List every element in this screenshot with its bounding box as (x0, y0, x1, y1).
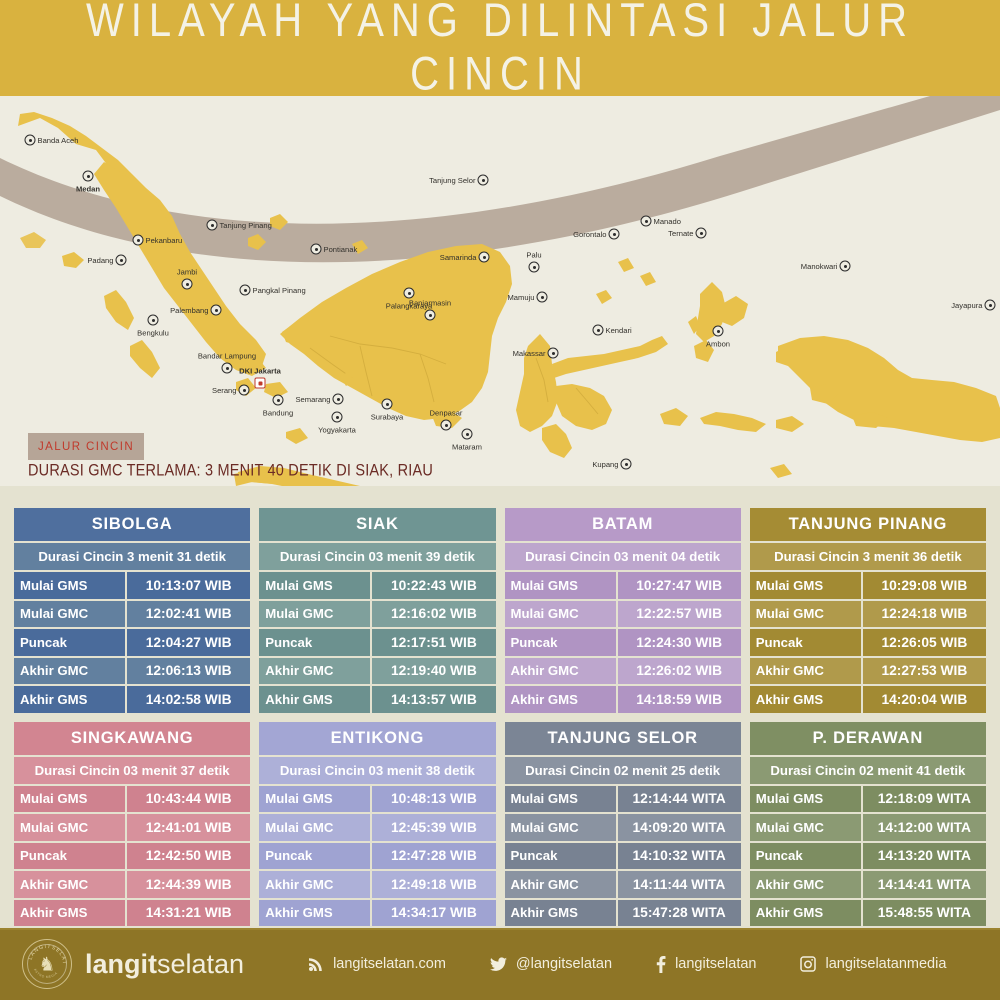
city-dot-icon (609, 229, 620, 240)
city-dot-icon (211, 305, 222, 316)
card-row: Akhir GMS15:48:55 WITA (750, 900, 986, 927)
legend-jalur-cincin: JALUR CINCIN (28, 433, 144, 460)
card-row-label: Akhir GMC (14, 658, 125, 685)
timing-card: ENTIKONGDurasi Cincin 03 menit 38 detikM… (259, 722, 495, 927)
brand-logo: LANGITSELATAN ASTRO MEDIA ♞ langitselata… (22, 939, 244, 989)
card-row-label: Mulai GMC (505, 814, 616, 841)
card-row-value: 14:14:41 WITA (863, 871, 986, 898)
city-dot-icon (537, 292, 548, 303)
card-row-label: Akhir GMC (14, 871, 125, 898)
map-city-label: Tanjung Selor (429, 176, 475, 185)
map-city-marker: Bandar Lampung (222, 363, 233, 374)
card-row-value: 12:42:50 WIB (127, 843, 250, 870)
card-title: SINGKAWANG (14, 722, 250, 755)
map-city-marker: Pontianak (311, 244, 322, 255)
map-city-marker: Ambon (713, 326, 724, 337)
city-dot-icon (529, 262, 540, 273)
map-city-marker: Pekanbaru (133, 235, 144, 246)
city-dot-icon (332, 412, 343, 423)
footer-link-label: langitselatan.com (333, 956, 446, 972)
card-row-label: Akhir GMS (505, 900, 616, 927)
map-city-label: Kendari (606, 326, 632, 335)
card-row-value: 14:18:59 WIB (618, 686, 741, 713)
card-duration: Durasi Cincin 3 menit 36 detik (750, 543, 986, 570)
map-city-marker: Palembang (211, 305, 222, 316)
card-row-label: Mulai GMS (259, 572, 370, 599)
card-row: Akhir GMS14:18:59 WIB (505, 686, 741, 713)
card-row-label: Akhir GMC (750, 871, 861, 898)
card-row: Puncak12:24:30 WIB (505, 629, 741, 656)
card-row: Puncak12:26:05 WIB (750, 629, 986, 656)
city-dot-icon (641, 216, 652, 227)
card-row-label: Mulai GMS (505, 572, 616, 599)
map-city-marker: Kupang (621, 459, 632, 470)
map-city-marker: Denpasar (441, 420, 452, 431)
indonesia-map (0, 96, 1000, 486)
map-city-marker: Gorontalo (609, 229, 620, 240)
map-city-label: Banda Aceh (38, 136, 79, 145)
rss-icon (308, 956, 324, 972)
card-row-value: 12:18:09 WITA (863, 786, 986, 813)
card-row-label: Akhir GMS (750, 900, 861, 927)
city-dot-icon (133, 235, 144, 246)
card-row-label: Akhir GMS (750, 686, 861, 713)
card-row: Akhir GMC12:49:18 WIB (259, 871, 495, 898)
map-city-label: Yogyakarta (318, 426, 356, 435)
city-dot-icon (222, 363, 233, 374)
card-row: Akhir GMC12:44:39 WIB (14, 871, 250, 898)
card-row: Mulai GMS12:18:09 WITA (750, 786, 986, 813)
card-row-label: Akhir GMS (505, 686, 616, 713)
page-title: WILAYAH YANG DILINTASI JALUR CINCIN (0, 0, 1000, 105)
card-row-label: Mulai GMC (750, 601, 861, 628)
card-row-label: Akhir GMS (14, 900, 125, 927)
map-city-label: DKI Jakarta (239, 367, 281, 376)
card-row: Akhir GMS14:02:58 WIB (14, 686, 250, 713)
timing-card: SINGKAWANGDurasi Cincin 03 menit 37 deti… (14, 722, 250, 927)
map-city-marker: Tanjung Selor (478, 175, 489, 186)
card-row: Akhir GMS14:31:21 WIB (14, 900, 250, 927)
card-row: Mulai GMS10:13:07 WIB (14, 572, 250, 599)
header-bar: WILAYAH YANG DILINTASI JALUR CINCIN (0, 0, 1000, 96)
map-city-marker: Semarang (333, 394, 344, 405)
card-row-label: Akhir GMS (259, 686, 370, 713)
card-row-label: Puncak (750, 843, 861, 870)
city-dot-icon (621, 459, 632, 470)
instagram-icon (800, 956, 816, 972)
map-city-marker: Surabaya (382, 399, 393, 410)
card-row: Akhir GMS14:34:17 WIB (259, 900, 495, 927)
map-city-label: Palembang (170, 306, 208, 315)
card-title: TANJUNG SELOR (505, 722, 741, 755)
facebook-icon (656, 956, 666, 973)
card-row-value: 14:31:21 WIB (127, 900, 250, 927)
card-row: Mulai GMC14:12:00 WITA (750, 814, 986, 841)
card-row-label: Mulai GMC (14, 601, 125, 628)
card-row: Mulai GMC12:22:57 WIB (505, 601, 741, 628)
card-duration: Durasi Cincin 3 menit 31 detik (14, 543, 250, 570)
card-row-value: 10:43:44 WIB (127, 786, 250, 813)
map-city-label: Manokwari (801, 262, 838, 271)
timing-card: TANJUNG SELORDurasi Cincin 02 menit 25 d… (505, 722, 741, 927)
card-row-value: 14:13:57 WIB (372, 686, 495, 713)
map-city-label: Mataram (452, 443, 482, 452)
card-row-value: 12:06:13 WIB (127, 658, 250, 685)
card-row-value: 15:47:28 WITA (618, 900, 741, 927)
card-row-value: 14:02:58 WIB (127, 686, 250, 713)
map-city-label: Semarang (295, 395, 330, 404)
map-city-marker: Kendari (593, 325, 604, 336)
card-row: Mulai GMS10:22:43 WIB (259, 572, 495, 599)
city-dot-icon (25, 135, 36, 146)
map-city-label: Surabaya (371, 413, 404, 422)
card-row-value: 10:27:47 WIB (618, 572, 741, 599)
card-row-label: Akhir GMC (505, 658, 616, 685)
card-row-value: 14:13:20 WITA (863, 843, 986, 870)
map-city-marker: Palangkaraya (404, 288, 415, 299)
map-city-marker: Makassar (548, 348, 559, 359)
map-city-marker: Banda Aceh (25, 135, 36, 146)
card-row-label: Akhir GMC (750, 658, 861, 685)
card-row-value: 15:48:55 WITA (863, 900, 986, 927)
card-row-label: Puncak (14, 629, 125, 656)
langitselatan-seal-icon: LANGITSELATAN ASTRO MEDIA ♞ (22, 939, 72, 989)
card-row: Akhir GMC12:27:53 WIB (750, 658, 986, 685)
card-row-value: 14:11:44 WITA (618, 871, 741, 898)
map-city-marker: Mamuju (537, 292, 548, 303)
card-row-value: 12:49:18 WIB (372, 871, 495, 898)
card-row: Mulai GMC14:09:20 WITA (505, 814, 741, 841)
city-dot-icon (382, 399, 393, 410)
card-row: Puncak12:17:51 WIB (259, 629, 495, 656)
card-row-value: 12:47:28 WIB (372, 843, 495, 870)
card-row-label: Akhir GMS (14, 686, 125, 713)
footer-link-rss[interactable]: langitselatan.com (308, 956, 446, 972)
map-city-marker: Manokwari (840, 261, 851, 272)
card-row-label: Mulai GMS (14, 786, 125, 813)
map-city-marker: Serang (239, 385, 250, 396)
card-row-label: Akhir GMC (505, 871, 616, 898)
map-city-label: Palu (526, 251, 541, 260)
footer-link-twitter[interactable]: @langitselatan (490, 956, 612, 972)
timing-card: SIAKDurasi Cincin 03 menit 39 detikMulai… (259, 508, 495, 713)
seal-horse-icon: ♞ (38, 955, 55, 974)
city-dot-icon (425, 310, 436, 321)
map-city-marker: DKI Jakarta (255, 378, 266, 389)
city-dot-icon (478, 175, 489, 186)
timing-card: BATAMDurasi Cincin 03 menit 04 detikMula… (505, 508, 741, 713)
card-row-value: 10:29:08 WIB (863, 572, 986, 599)
card-row: Mulai GMS12:14:44 WITA (505, 786, 741, 813)
map-city-marker: Bandung (273, 395, 284, 406)
map-city-label: Pangkal Pinang (253, 286, 306, 295)
city-dot-icon (273, 395, 284, 406)
city-dot-icon (207, 220, 218, 231)
card-row-value: 12:19:40 WIB (372, 658, 495, 685)
brand-name-light: selatan (157, 949, 244, 979)
card-row-value: 12:04:27 WIB (127, 629, 250, 656)
card-row-label: Akhir GMC (259, 658, 370, 685)
timing-card: TANJUNG PINANGDurasi Cincin 3 menit 36 d… (750, 508, 986, 713)
footer-link-label: langitselatan (675, 956, 756, 972)
map-city-marker: Ternate (696, 228, 707, 239)
map-city-label: Bandar Lampung (198, 352, 256, 361)
card-row-value: 12:26:02 WIB (618, 658, 741, 685)
card-row-value: 14:34:17 WIB (372, 900, 495, 927)
card-row-value: 12:17:51 WIB (372, 629, 495, 656)
card-row-value: 12:16:02 WIB (372, 601, 495, 628)
map-caption: DURASI GMC TERLAMA: 3 MENIT 40 DETIK DI … (28, 462, 433, 480)
city-dot-icon (479, 252, 490, 263)
card-row-label: Puncak (14, 843, 125, 870)
city-dot-icon (404, 288, 415, 299)
card-title: SIBOLGA (14, 508, 250, 541)
brand-name-bold: langit (85, 949, 157, 979)
city-dot-icon (182, 279, 193, 290)
card-row: Akhir GMC14:14:41 WITA (750, 871, 986, 898)
card-title: SIAK (259, 508, 495, 541)
card-duration: Durasi Cincin 03 menit 39 detik (259, 543, 495, 570)
card-title: P. DERAWAN (750, 722, 986, 755)
card-row-label: Mulai GMS (259, 786, 370, 813)
card-row-label: Mulai GMC (259, 601, 370, 628)
card-row-value: 12:22:57 WIB (618, 601, 741, 628)
card-row-value: 12:24:18 WIB (863, 601, 986, 628)
card-row-label: Mulai GMS (505, 786, 616, 813)
card-row-value: 14:10:32 WITA (618, 843, 741, 870)
card-row-label: Puncak (259, 629, 370, 656)
city-dot-icon (83, 171, 94, 182)
card-duration: Durasi Cincin 02 menit 25 detik (505, 757, 741, 784)
card-row: Mulai GMS10:43:44 WIB (14, 786, 250, 813)
card-row: Mulai GMS10:48:13 WIB (259, 786, 495, 813)
city-dot-icon (239, 385, 250, 396)
footer-divider (0, 928, 1000, 930)
card-row-value: 12:26:05 WIB (863, 629, 986, 656)
city-dot-icon (462, 429, 473, 440)
map-city-label: Jayapura (951, 301, 982, 310)
card-row: Akhir GMC12:26:02 WIB (505, 658, 741, 685)
card-row-label: Mulai GMS (750, 786, 861, 813)
city-dot-icon (333, 394, 344, 405)
card-row-value: 14:20:04 WIB (863, 686, 986, 713)
card-row-value: 12:14:44 WITA (618, 786, 741, 813)
footer-link-label: langitselatanmedia (825, 956, 946, 972)
map-city-label: Gorontalo (573, 230, 606, 239)
card-row-label: Mulai GMC (750, 814, 861, 841)
twitter-icon (490, 957, 507, 972)
card-row: Akhir GMC12:19:40 WIB (259, 658, 495, 685)
city-dot-icon (713, 326, 724, 337)
map-city-marker: Samarinda (479, 252, 490, 263)
legend-label: JALUR CINCIN (38, 441, 134, 453)
map-city-label: Ternate (668, 229, 693, 238)
city-dot-icon (148, 315, 159, 326)
card-row-label: Puncak (505, 843, 616, 870)
card-row-value: 12:45:39 WIB (372, 814, 495, 841)
card-row: Mulai GMC12:41:01 WIB (14, 814, 250, 841)
brand-wordmark: langitselatan (85, 951, 244, 978)
card-duration: Durasi Cincin 02 menit 41 detik (750, 757, 986, 784)
city-dot-icon (441, 420, 452, 431)
card-row-label: Puncak (259, 843, 370, 870)
map-city-label: Bengkulu (137, 329, 169, 338)
card-row: Akhir GMS14:13:57 WIB (259, 686, 495, 713)
card-row-label: Mulai GMC (505, 601, 616, 628)
card-row: Akhir GMC12:06:13 WIB (14, 658, 250, 685)
card-row-label: Akhir GMS (259, 900, 370, 927)
footer-bar: LANGITSELATAN ASTRO MEDIA ♞ langitselata… (0, 928, 1000, 1000)
city-timing-cards: SIBOLGADurasi Cincin 3 menit 31 detikMul… (14, 508, 986, 926)
capital-marker-icon (255, 378, 266, 389)
footer-social-links: langitselatan.com@langitselatanlangitsel… (308, 956, 946, 973)
card-row-value: 12:41:01 WIB (127, 814, 250, 841)
card-row-value: 12:02:41 WIB (127, 601, 250, 628)
city-dot-icon (840, 261, 851, 272)
card-row-label: Akhir GMC (259, 871, 370, 898)
card-row: Puncak12:42:50 WIB (14, 843, 250, 870)
footer-link-facebook[interactable]: langitselatan (656, 956, 756, 973)
map-city-label: Ambon (706, 340, 730, 349)
map-city-marker: Palu (529, 262, 540, 273)
card-row-label: Puncak (505, 629, 616, 656)
card-row-label: Mulai GMS (750, 572, 861, 599)
city-dot-icon (116, 255, 127, 266)
infographic-page: WILAYAH YANG DILINTASI JALUR CINCIN (0, 0, 1000, 1000)
footer-link-instagram[interactable]: langitselatanmedia (800, 956, 946, 972)
map-city-marker: Pangkal Pinang (240, 285, 251, 296)
map-city-marker: Medan (83, 171, 94, 182)
map-city-label: Manado (654, 217, 681, 226)
card-row: Mulai GMC12:16:02 WIB (259, 601, 495, 628)
card-row: Akhir GMC14:11:44 WITA (505, 871, 741, 898)
card-row: Mulai GMS10:27:47 WIB (505, 572, 741, 599)
card-row: Puncak12:04:27 WIB (14, 629, 250, 656)
map-city-label: Padang (87, 256, 113, 265)
timing-card: SIBOLGADurasi Cincin 3 menit 31 detikMul… (14, 508, 250, 713)
card-row: Puncak14:10:32 WITA (505, 843, 741, 870)
card-duration: Durasi Cincin 03 menit 04 detik (505, 543, 741, 570)
card-row-value: 12:44:39 WIB (127, 871, 250, 898)
map-city-label: Banjarmasin (409, 299, 451, 308)
card-row: Mulai GMS10:29:08 WIB (750, 572, 986, 599)
map-panel: Banda AcehMedanTanjung PinangPekanbaruPa… (0, 96, 1000, 486)
map-city-label: Tanjung Pinang (220, 221, 272, 230)
card-row: Mulai GMC12:02:41 WIB (14, 601, 250, 628)
card-row-value: 14:09:20 WITA (618, 814, 741, 841)
map-city-marker: Mataram (462, 429, 473, 440)
city-dot-icon (593, 325, 604, 336)
card-row: Puncak12:47:28 WIB (259, 843, 495, 870)
card-row: Puncak14:13:20 WITA (750, 843, 986, 870)
card-title: ENTIKONG (259, 722, 495, 755)
map-city-label: Pekanbaru (146, 236, 183, 245)
map-city-label: Medan (76, 185, 100, 194)
map-city-label: Mamuju (507, 293, 534, 302)
map-city-marker: Yogyakarta (332, 412, 343, 423)
map-city-label: Denpasar (430, 409, 463, 418)
card-row: Akhir GMS14:20:04 WIB (750, 686, 986, 713)
card-duration: Durasi Cincin 03 menit 37 detik (14, 757, 250, 784)
map-city-label: Makassar (513, 349, 546, 358)
map-city-label: Serang (212, 386, 237, 395)
map-city-marker: Manado (641, 216, 652, 227)
card-row-label: Mulai GMC (259, 814, 370, 841)
card-row: Mulai GMC12:45:39 WIB (259, 814, 495, 841)
map-city-marker: Tanjung Pinang (207, 220, 218, 231)
card-row-label: Mulai GMC (14, 814, 125, 841)
card-duration: Durasi Cincin 03 menit 38 detik (259, 757, 495, 784)
footer-link-label: @langitselatan (516, 956, 612, 972)
card-row-label: Mulai GMS (14, 572, 125, 599)
city-dot-icon (548, 348, 559, 359)
city-dot-icon (240, 285, 251, 296)
card-row: Mulai GMC12:24:18 WIB (750, 601, 986, 628)
card-row: Akhir GMS15:47:28 WITA (505, 900, 741, 927)
map-city-marker: Padang (116, 255, 127, 266)
card-row-value: 14:12:00 WITA (863, 814, 986, 841)
map-city-marker: Jayapura (985, 300, 996, 311)
card-row-label: Puncak (750, 629, 861, 656)
map-city-label: Kupang (592, 460, 618, 469)
card-title: BATAM (505, 508, 741, 541)
map-city-label: Pontianak (324, 245, 358, 254)
card-title: TANJUNG PINANG (750, 508, 986, 541)
city-dot-icon (985, 300, 996, 311)
card-row-value: 10:13:07 WIB (127, 572, 250, 599)
card-row-value: 10:48:13 WIB (372, 786, 495, 813)
card-row-value: 12:27:53 WIB (863, 658, 986, 685)
map-city-marker: Banjarmasin (425, 310, 436, 321)
map-city-label: Samarinda (440, 253, 477, 262)
map-city-marker: Jambi (182, 279, 193, 290)
card-row-value: 10:22:43 WIB (372, 572, 495, 599)
city-dot-icon (311, 244, 322, 255)
map-city-label: Jambi (177, 268, 197, 277)
card-row-value: 12:24:30 WIB (618, 629, 741, 656)
map-city-marker: Bengkulu (148, 315, 159, 326)
island-papua (776, 336, 1000, 442)
map-city-label: Bandung (263, 409, 293, 418)
city-dot-icon (696, 228, 707, 239)
timing-card: P. DERAWANDurasi Cincin 02 menit 41 deti… (750, 722, 986, 927)
